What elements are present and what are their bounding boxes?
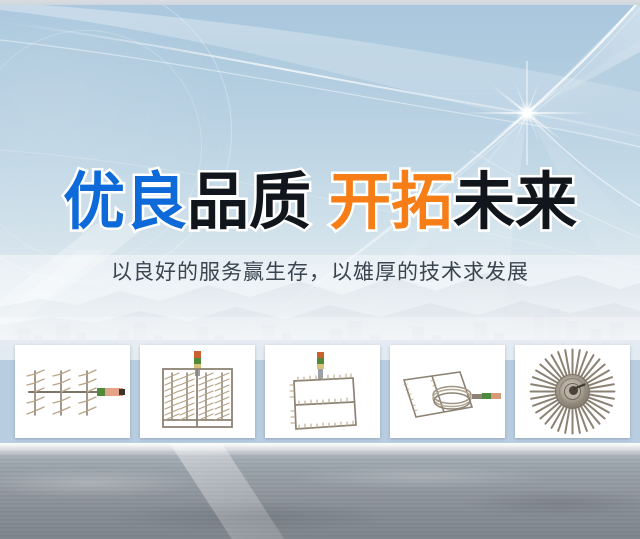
- promotional-banner: 优良品质开拓未来 以良好的服务赢生存，以雄厚的技术求发展: [0, 0, 640, 539]
- page-title: 优良品质开拓未来: [0, 168, 640, 236]
- top-edge-strip: [0, 0, 640, 5]
- ground-horizon-haze: [0, 443, 640, 457]
- subtitle-slogan: 以良好的服务赢生存，以雄厚的技术求发展: [0, 258, 640, 286]
- headline-part-3: 开拓: [329, 165, 453, 238]
- concrete-ground: [0, 443, 640, 539]
- product-card-branched-anchor-assembly[interactable]: [15, 345, 130, 438]
- product-card-spiked-frame-panel[interactable]: [140, 345, 255, 438]
- headline-part-2: 品质: [187, 165, 311, 238]
- product-card-radial-starburst-wheel[interactable]: [515, 345, 630, 438]
- product-thumbnail-row: [15, 345, 630, 440]
- product-card-rectangular-ladder-frame[interactable]: [265, 345, 380, 438]
- headline-part-1: 优良: [63, 165, 187, 238]
- ground-texture: [0, 443, 640, 539]
- product-card-coil-ring-panel[interactable]: [390, 345, 505, 438]
- headline-part-4: 未来: [453, 165, 577, 238]
